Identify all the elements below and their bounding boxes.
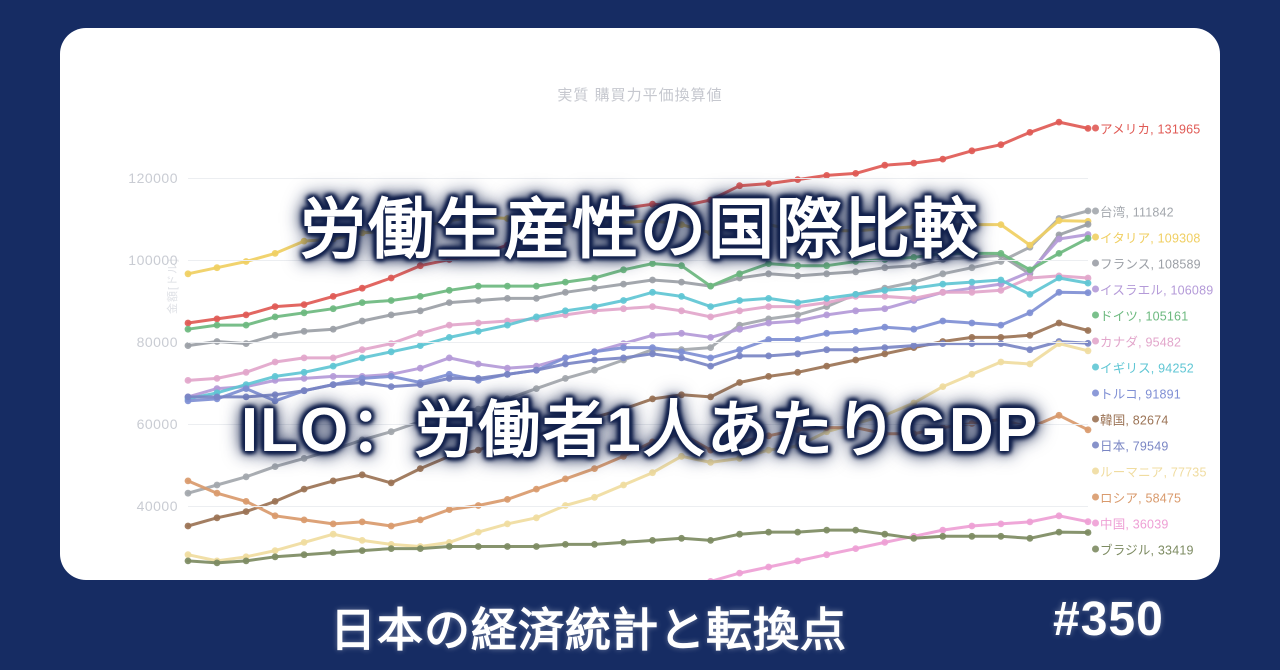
series-marker xyxy=(417,381,424,388)
series-marker xyxy=(185,377,192,384)
series-label-dot xyxy=(1092,337,1099,344)
series-marker xyxy=(388,312,395,319)
series-marker xyxy=(301,301,308,308)
series-marker xyxy=(417,545,424,552)
series-marker xyxy=(272,359,279,366)
series-marker xyxy=(910,326,917,333)
series-marker xyxy=(301,375,308,382)
series-marker xyxy=(359,318,366,325)
series-marker xyxy=(649,303,656,310)
series-marker xyxy=(998,521,1005,528)
series-marker xyxy=(852,291,859,298)
series-marker xyxy=(620,305,627,312)
series-marker xyxy=(562,355,569,362)
series-marker xyxy=(620,344,627,351)
series-label-dot xyxy=(1092,545,1099,552)
series-marker xyxy=(185,490,192,497)
series-marker xyxy=(1027,129,1034,136)
series-marker xyxy=(765,180,772,187)
series-marker xyxy=(243,312,250,319)
series-marker xyxy=(765,353,772,360)
series-marker xyxy=(214,375,221,382)
series-marker xyxy=(504,295,511,302)
series-marker xyxy=(504,322,511,329)
series-marker xyxy=(475,320,482,327)
series-marker xyxy=(736,182,743,189)
series-marker xyxy=(707,334,714,341)
series-marker xyxy=(243,385,250,392)
series-marker xyxy=(852,328,859,335)
y-axis-tick: 20000 xyxy=(137,580,188,581)
series-end-label: ルーマニア, 77735 xyxy=(1100,461,1207,480)
series-marker xyxy=(852,268,859,275)
series-marker xyxy=(707,355,714,362)
series-marker xyxy=(475,328,482,335)
series-marker xyxy=(185,320,192,327)
series-marker xyxy=(504,283,511,290)
series-marker xyxy=(388,383,395,390)
series-marker xyxy=(272,547,279,554)
series-marker xyxy=(475,283,482,290)
series-marker xyxy=(736,326,743,333)
series-marker xyxy=(1056,529,1063,536)
series-marker xyxy=(852,307,859,314)
series-marker xyxy=(243,473,250,480)
series-marker xyxy=(707,283,714,290)
series-marker xyxy=(969,371,976,378)
series-marker xyxy=(591,303,598,310)
series-marker xyxy=(823,295,830,302)
series-marker xyxy=(388,480,395,487)
series-marker xyxy=(185,558,192,565)
series-line xyxy=(188,276,1088,381)
series-marker xyxy=(678,535,685,542)
series-marker xyxy=(765,529,772,536)
series-marker xyxy=(1056,119,1063,126)
series-marker xyxy=(823,527,830,534)
y-axis-tick: 40000 xyxy=(137,498,188,514)
series-label-dot xyxy=(1092,389,1099,396)
series-marker xyxy=(1085,289,1092,296)
gridline xyxy=(188,178,1088,179)
series-marker xyxy=(533,486,540,493)
series-marker xyxy=(475,361,482,368)
series-marker xyxy=(736,270,743,277)
series-marker xyxy=(388,275,395,282)
series-marker xyxy=(446,299,453,306)
series-marker xyxy=(591,494,598,501)
series-marker xyxy=(272,373,279,380)
series-marker xyxy=(504,365,511,372)
series-marker xyxy=(736,346,743,353)
series-marker xyxy=(1027,346,1034,353)
series-end-label: イギリス, 94252 xyxy=(1100,357,1194,376)
series-marker xyxy=(475,543,482,550)
series-marker xyxy=(881,539,888,546)
series-marker xyxy=(998,322,1005,329)
series-marker xyxy=(243,558,250,565)
series-marker xyxy=(214,482,221,489)
series-marker xyxy=(910,279,917,286)
gridline xyxy=(188,506,1088,507)
series-marker xyxy=(591,465,598,472)
series-marker xyxy=(185,551,192,558)
series-marker xyxy=(446,355,453,362)
series-marker xyxy=(969,147,976,154)
series-marker xyxy=(1056,512,1063,519)
series-marker xyxy=(214,264,221,271)
series-marker xyxy=(562,289,569,296)
series-marker xyxy=(736,531,743,538)
series-marker xyxy=(301,517,308,524)
series-marker xyxy=(591,541,598,548)
series-marker xyxy=(301,539,308,546)
series-marker xyxy=(881,531,888,538)
chart-title: 実質 購買力平価換算値 xyxy=(60,84,1220,105)
series-marker xyxy=(388,348,395,355)
series-marker xyxy=(562,307,569,314)
series-marker xyxy=(504,543,511,550)
series-end-label: イスラエル, 106089 xyxy=(1100,279,1213,298)
series-marker xyxy=(243,508,250,515)
series-marker xyxy=(214,490,221,497)
series-marker xyxy=(852,346,859,353)
series-marker xyxy=(620,297,627,304)
series-marker xyxy=(969,320,976,327)
series-label-dot xyxy=(1092,311,1099,318)
series-marker xyxy=(765,295,772,302)
series-marker xyxy=(969,289,976,296)
series-marker xyxy=(823,346,830,353)
series-marker xyxy=(446,334,453,341)
series-marker xyxy=(446,287,453,294)
series-marker xyxy=(533,295,540,302)
series-marker xyxy=(562,279,569,286)
series-marker xyxy=(794,299,801,306)
series-label-dot xyxy=(1092,363,1099,370)
chart-card: 実質 購買力平価換算値 金額[ドル] 200004000060000800001… xyxy=(60,28,1220,580)
series-marker xyxy=(736,353,743,360)
series-marker xyxy=(330,363,337,370)
series-line xyxy=(188,530,1088,563)
series-marker xyxy=(765,564,772,571)
plot-area: 20000400006000080000100000120000 xyxy=(188,116,1088,580)
series-marker xyxy=(185,478,192,485)
series-marker xyxy=(620,281,627,288)
series-marker xyxy=(359,537,366,544)
series-marker xyxy=(243,498,250,505)
series-marker xyxy=(998,141,1005,148)
series-marker xyxy=(1085,125,1092,132)
series-marker xyxy=(852,545,859,552)
series-marker xyxy=(794,350,801,357)
series-marker xyxy=(852,527,859,534)
series-marker xyxy=(707,578,714,580)
series-marker xyxy=(562,361,569,368)
series-marker xyxy=(475,297,482,304)
series-marker xyxy=(359,346,366,353)
series-marker xyxy=(533,543,540,550)
series-marker xyxy=(823,312,830,319)
series-marker xyxy=(707,344,714,351)
series-marker xyxy=(533,514,540,521)
series-end-label: カナダ, 95482 xyxy=(1100,331,1181,350)
series-marker xyxy=(475,375,482,382)
series-end-label: ドイツ, 105161 xyxy=(1100,305,1188,324)
series-marker xyxy=(998,334,1005,341)
series-marker xyxy=(1085,347,1092,354)
series-marker xyxy=(1027,519,1034,526)
series-marker xyxy=(794,318,801,325)
series-marker xyxy=(446,375,453,382)
series-label-dot xyxy=(1092,125,1099,132)
series-marker xyxy=(591,357,598,364)
series-marker xyxy=(823,270,830,277)
series-marker xyxy=(881,293,888,300)
series-marker xyxy=(504,521,511,528)
series-marker xyxy=(272,314,279,321)
series-marker xyxy=(649,289,656,296)
series-marker xyxy=(591,348,598,355)
series-marker xyxy=(969,279,976,286)
series-marker xyxy=(214,322,221,329)
series-marker xyxy=(417,330,424,337)
series-marker xyxy=(969,523,976,530)
series-marker xyxy=(620,266,627,273)
y-axis-tick: 80000 xyxy=(137,334,188,350)
series-marker xyxy=(417,307,424,314)
series-marker xyxy=(765,270,772,277)
footer-title: 日本の経済統計と転換点 xyxy=(330,594,847,660)
series-end-label: 中国, 36039 xyxy=(1100,513,1169,532)
series-marker xyxy=(417,365,424,372)
series-marker xyxy=(939,289,946,296)
series-marker xyxy=(649,332,656,339)
series-marker xyxy=(678,330,685,337)
series-marker xyxy=(185,270,192,277)
series-marker xyxy=(881,324,888,331)
headline-secondary: ILO：労働者1人あたりGDP xyxy=(0,400,1280,462)
series-marker xyxy=(1085,327,1092,334)
series-marker xyxy=(591,275,598,282)
series-marker xyxy=(998,359,1005,366)
series-marker xyxy=(475,529,482,536)
series-marker xyxy=(765,303,772,310)
series-marker xyxy=(1056,289,1063,296)
series-end-label: ロシア, 58475 xyxy=(1100,487,1181,506)
series-marker xyxy=(417,293,424,300)
series-marker xyxy=(330,373,337,380)
series-marker xyxy=(620,355,627,362)
series-marker xyxy=(1085,529,1092,536)
series-marker xyxy=(533,385,540,392)
series-label-dot xyxy=(1092,467,1099,474)
series-marker xyxy=(852,170,859,177)
headline-primary: 労働生産性の国際比較 xyxy=(0,196,1280,262)
series-marker xyxy=(359,285,366,292)
series-marker xyxy=(765,373,772,380)
series-marker xyxy=(823,551,830,558)
series-marker xyxy=(881,344,888,351)
series-marker xyxy=(272,553,279,560)
series-marker xyxy=(272,498,279,505)
series-marker xyxy=(388,297,395,304)
series-marker xyxy=(330,355,337,362)
series-marker xyxy=(562,541,569,548)
series-marker xyxy=(330,305,337,312)
series-marker xyxy=(736,570,743,577)
series-marker xyxy=(998,533,1005,540)
series-marker xyxy=(736,297,743,304)
series-marker xyxy=(504,371,511,378)
series-marker xyxy=(707,303,714,310)
series-marker xyxy=(939,318,946,325)
series-marker xyxy=(301,387,308,394)
series-marker xyxy=(678,348,685,355)
series-marker xyxy=(1056,275,1063,282)
series-marker xyxy=(881,287,888,294)
series-marker xyxy=(823,330,830,337)
series-marker xyxy=(214,560,221,567)
series-marker xyxy=(533,314,540,321)
series-marker xyxy=(939,533,946,540)
series-marker xyxy=(301,355,308,362)
series-marker xyxy=(1056,320,1063,327)
series-marker xyxy=(446,322,453,329)
series-marker xyxy=(243,322,250,329)
series-marker xyxy=(939,383,946,390)
series-marker xyxy=(939,156,946,163)
series-marker xyxy=(359,299,366,306)
series-line xyxy=(188,516,1088,580)
series-marker xyxy=(214,514,221,521)
footer-episode-number: #350 xyxy=(1053,592,1164,647)
series-label-dot xyxy=(1092,285,1099,292)
series-marker xyxy=(910,295,917,302)
gridline xyxy=(188,342,1088,343)
series-marker xyxy=(562,375,569,382)
series-marker xyxy=(330,293,337,300)
series-marker xyxy=(446,506,453,513)
series-marker xyxy=(591,285,598,292)
series-marker xyxy=(969,533,976,540)
series-marker xyxy=(417,465,424,472)
series-marker xyxy=(330,326,337,333)
series-marker xyxy=(301,328,308,335)
series-marker xyxy=(359,519,366,526)
series-marker xyxy=(649,537,656,544)
series-marker xyxy=(852,357,859,364)
series-marker xyxy=(330,531,337,538)
series-marker xyxy=(243,369,250,376)
series-marker xyxy=(794,273,801,280)
series-label-dot xyxy=(1092,493,1099,500)
series-marker xyxy=(707,314,714,321)
series-marker xyxy=(330,478,337,485)
series-marker xyxy=(910,160,917,167)
series-marker xyxy=(272,512,279,519)
series-marker xyxy=(736,379,743,386)
series-marker xyxy=(359,355,366,362)
series-marker xyxy=(678,355,685,362)
series-marker xyxy=(678,307,685,314)
series-marker xyxy=(939,281,946,288)
series-marker xyxy=(794,312,801,319)
series-marker xyxy=(330,549,337,556)
poster-canvas: 実質 購買力平価換算値 金額[ドル] 200004000060000800001… xyxy=(0,0,1280,670)
series-marker xyxy=(301,551,308,558)
series-marker xyxy=(1027,309,1034,316)
series-marker xyxy=(736,307,743,314)
series-marker xyxy=(707,537,714,544)
series-marker xyxy=(533,283,540,290)
series-marker xyxy=(620,539,627,546)
series-end-label: ブラジル, 33419 xyxy=(1100,539,1194,558)
series-marker xyxy=(388,373,395,380)
series-marker xyxy=(678,293,685,300)
series-marker xyxy=(881,162,888,169)
series-marker xyxy=(1085,280,1092,287)
series-marker xyxy=(649,277,656,284)
series-marker xyxy=(214,316,221,323)
series-marker xyxy=(1027,361,1034,368)
series-marker xyxy=(969,334,976,341)
series-marker xyxy=(620,482,627,489)
series-marker xyxy=(823,363,830,370)
series-marker xyxy=(301,309,308,316)
series-marker xyxy=(591,367,598,374)
series-marker xyxy=(359,471,366,478)
series-marker xyxy=(649,350,656,357)
series-marker xyxy=(649,469,656,476)
series-marker xyxy=(504,496,511,503)
series-end-label: アメリカ, 131965 xyxy=(1100,119,1200,138)
series-marker xyxy=(185,523,192,530)
series-marker xyxy=(998,287,1005,294)
series-marker xyxy=(998,277,1005,284)
series-marker xyxy=(301,369,308,376)
series-marker xyxy=(910,342,917,349)
series-marker xyxy=(185,326,192,333)
series-marker xyxy=(388,545,395,552)
series-marker xyxy=(910,535,917,542)
series-marker xyxy=(707,363,714,370)
series-label-dot xyxy=(1092,519,1099,526)
series-lines xyxy=(188,116,1088,580)
series-marker xyxy=(330,521,337,528)
series-marker xyxy=(939,527,946,534)
series-marker xyxy=(301,486,308,493)
series-marker xyxy=(562,476,569,483)
series-marker xyxy=(910,285,917,292)
series-marker xyxy=(649,344,656,351)
series-label-column: アメリカ, 131965台湾, 111842イタリア, 109308フランス, … xyxy=(1100,28,1220,580)
series-marker xyxy=(359,547,366,554)
series-marker xyxy=(417,517,424,524)
series-marker xyxy=(765,320,772,327)
series-marker xyxy=(1027,332,1034,339)
series-marker xyxy=(388,523,395,530)
series-marker xyxy=(1027,535,1034,542)
series-marker xyxy=(330,381,337,388)
series-marker xyxy=(533,367,540,374)
series-marker xyxy=(446,543,453,550)
series-marker xyxy=(359,379,366,386)
series-marker xyxy=(939,270,946,277)
series-marker xyxy=(1027,266,1034,273)
series-marker xyxy=(881,350,888,357)
series-marker xyxy=(1027,275,1034,282)
